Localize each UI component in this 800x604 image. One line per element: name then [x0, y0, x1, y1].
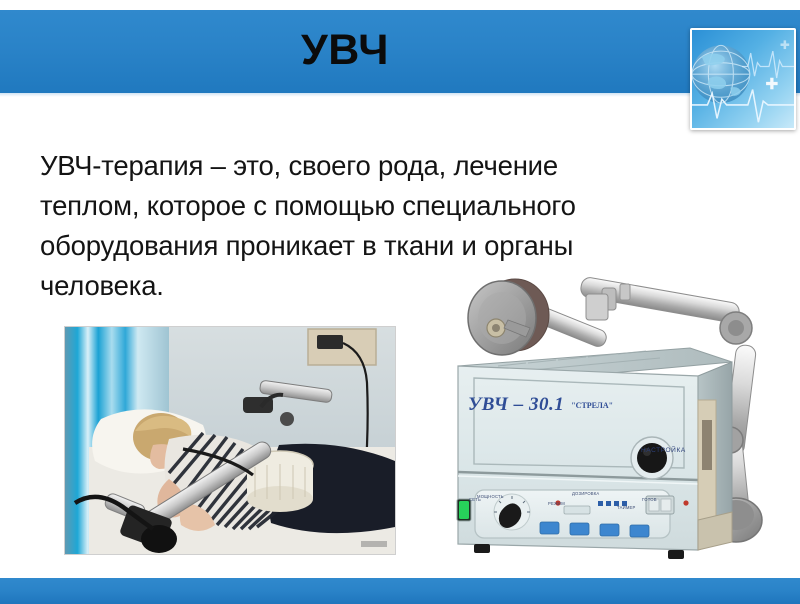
device-model-suffix: "СТРЕЛА"	[571, 401, 613, 410]
page-title: УВЧ	[0, 25, 690, 75]
header-underline	[0, 93, 800, 97]
slide-canvas: УВЧ	[0, 0, 800, 600]
panel-dose-label: ДОЗИРОВКА	[572, 491, 599, 496]
therapy-session-photo	[65, 327, 395, 554]
device-tuning-knob-label: НАСТРОЙКА	[641, 447, 686, 454]
device-model-text: УВЧ – 30.1	[468, 394, 564, 415]
device-model-label: УВЧ – 30.1"СТРЕЛА"	[468, 394, 613, 416]
panel-ready-label: ГОТОВ	[642, 497, 657, 502]
footer-band	[0, 578, 800, 604]
panel-mode-label: РЕЖИМ	[548, 501, 565, 506]
medical-globe-ecg-logo	[690, 28, 796, 130]
panel-timer-label: ТАЙМЕР	[617, 505, 636, 510]
panel-power-label: МОЩНОСТЬ	[477, 494, 504, 499]
body-line-2: теплом, которое с помощью специального	[40, 186, 730, 226]
panel-net-label: СЕТЬ	[469, 497, 481, 502]
body-line-1: УВЧ-терапия – это, своего рода, лечение	[40, 146, 730, 186]
